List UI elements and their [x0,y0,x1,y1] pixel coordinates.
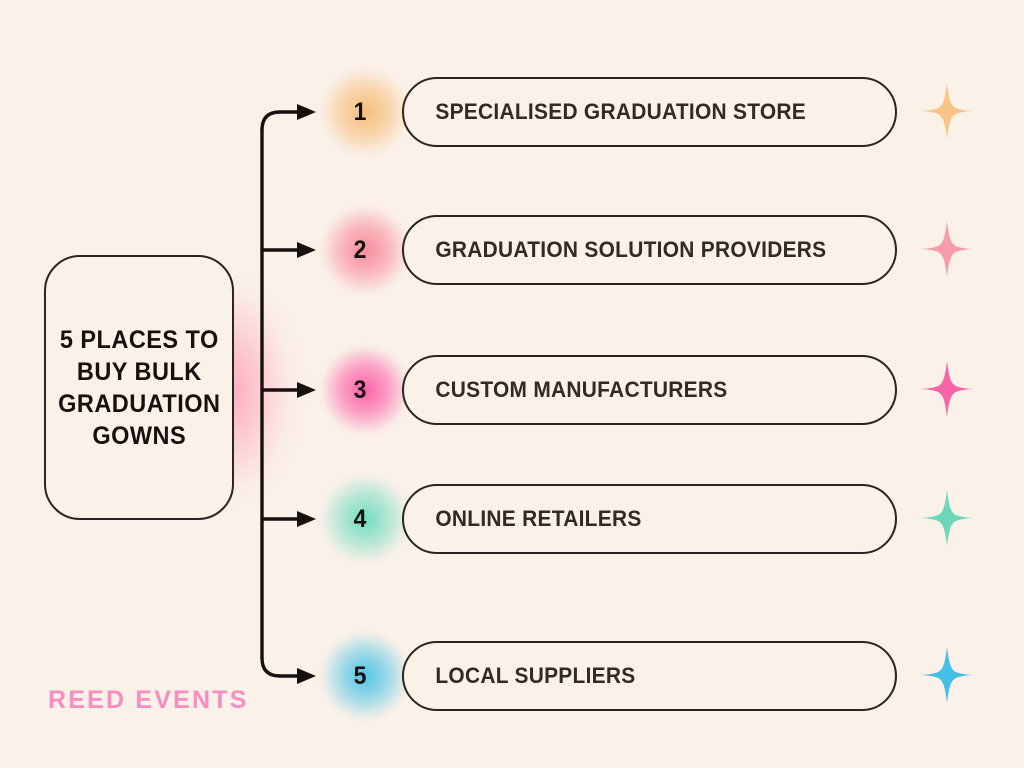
title-card-container: 5 PLACES TO BUY BULK GRADUATION GOWNS [44,255,234,520]
four-point-sparkle-icon [918,489,976,547]
step-number-3: 3 [310,335,410,445]
item-pill-label: CUSTOM MANUFACTURERS [404,377,727,403]
list-item: 2 GRADUATION SOLUTION PROVIDERS [310,195,990,305]
list-item: 5 LOCAL SUPPLIERS [310,621,990,731]
step-number-2: 2 [310,195,410,305]
page-title: 5 PLACES TO BUY BULK GRADUATION GOWNS [58,324,220,452]
item-pill-3[interactable]: CUSTOM MANUFACTURERS [402,355,897,425]
item-pill-2[interactable]: GRADUATION SOLUTION PROVIDERS [402,215,897,285]
step-number-4: 4 [310,464,410,574]
step-number-label: 4 [314,464,406,574]
list-item: 1 SPECIALISED GRADUATION STORE [310,57,990,167]
step-number-label: 1 [314,57,406,167]
brand-footer: REED EVENTS [48,686,249,715]
four-point-sparkle-icon [918,360,976,418]
item-pill-label: SPECIALISED GRADUATION STORE [404,99,806,125]
step-number-label: 2 [314,195,406,305]
list-item: 4 ONLINE RETAILERS [310,464,990,574]
step-number-5: 5 [310,621,410,731]
step-number-1: 1 [310,57,410,167]
four-point-sparkle-icon [918,82,976,140]
item-pill-4[interactable]: ONLINE RETAILERS [402,484,897,554]
infographic-canvas: 5 PLACES TO BUY BULK GRADUATION GOWNS 1 … [0,0,1024,768]
four-point-sparkle-icon [918,646,976,704]
item-pill-5[interactable]: LOCAL SUPPLIERS [402,641,897,711]
four-point-sparkle-icon [918,220,976,278]
item-pill-label: ONLINE RETAILERS [404,506,642,532]
item-pill-label: GRADUATION SOLUTION PROVIDERS [404,237,826,263]
title-card: 5 PLACES TO BUY BULK GRADUATION GOWNS [44,255,234,520]
item-pill-1[interactable]: SPECIALISED GRADUATION STORE [402,77,897,147]
step-number-label: 3 [314,335,406,445]
item-pill-label: LOCAL SUPPLIERS [404,663,636,689]
step-number-label: 5 [314,621,406,731]
list-item: 3 CUSTOM MANUFACTURERS [310,335,990,445]
